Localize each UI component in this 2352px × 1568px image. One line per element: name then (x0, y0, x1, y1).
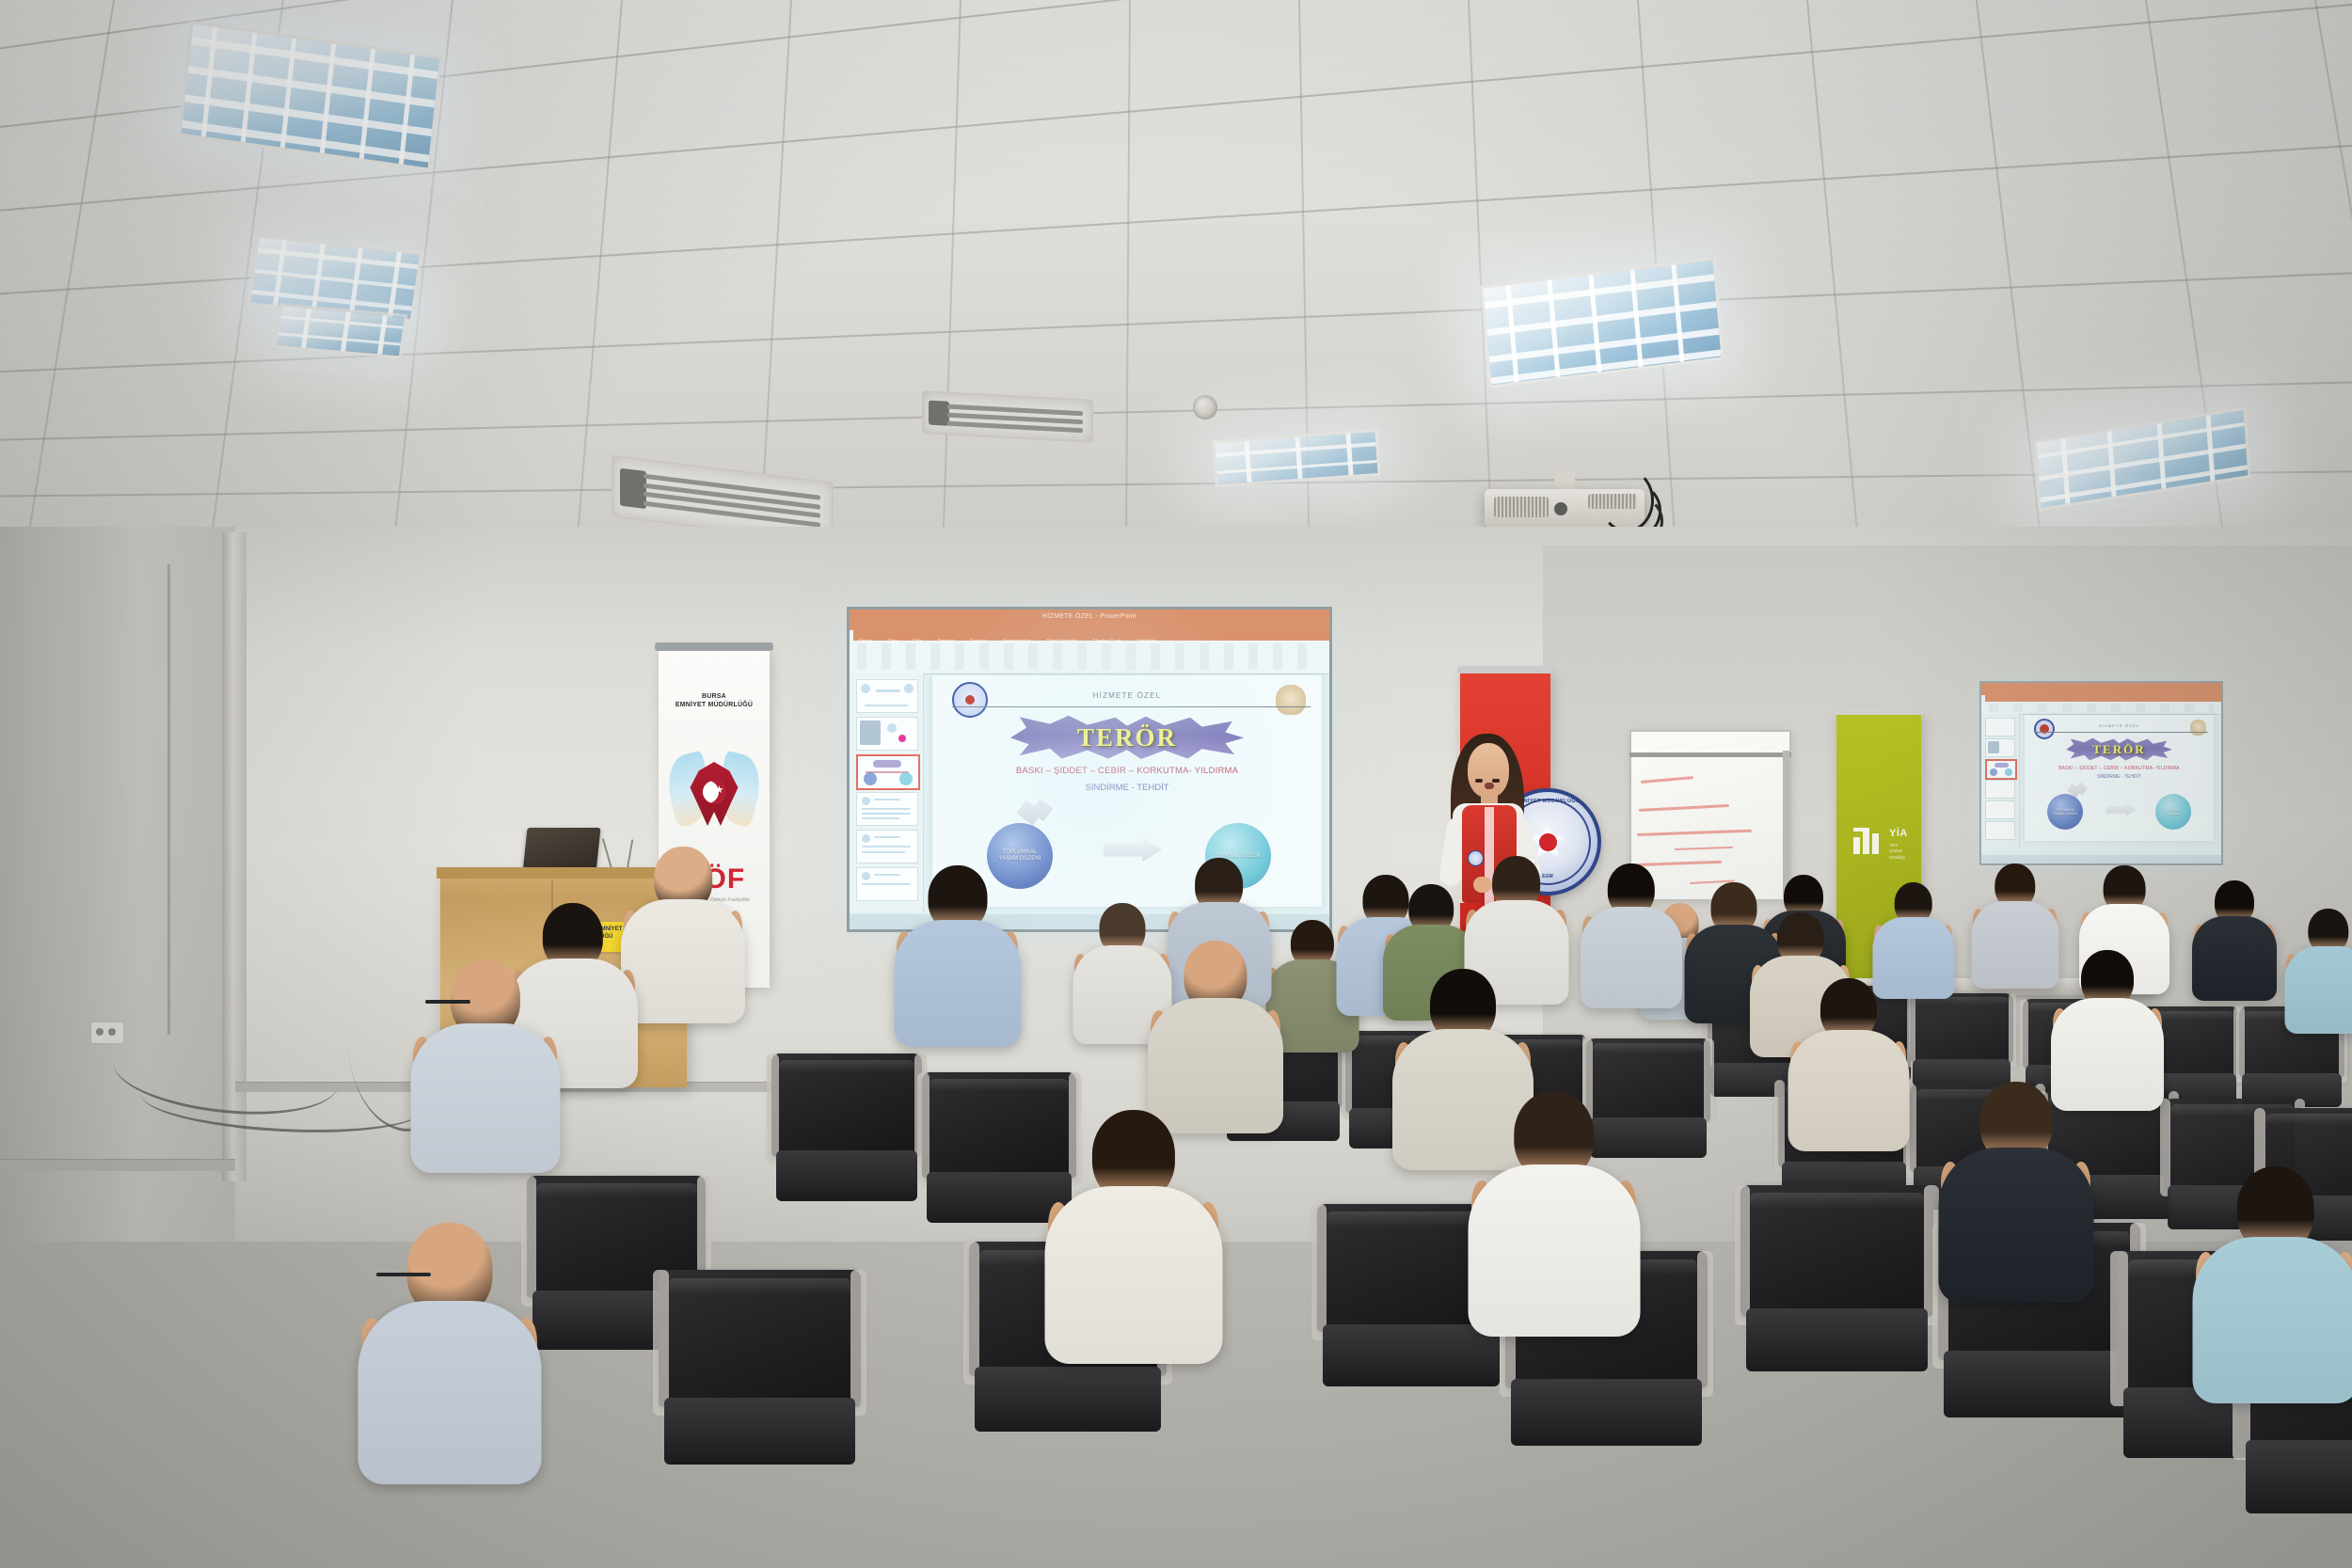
audience-member (1581, 863, 1682, 1018)
slide-keywords-line1: BASKI – ŞİDDET – CEBİR – KORKUTMA- YILDI… (948, 766, 1307, 776)
carpet-tile (0, 1289, 104, 1343)
banner-org-title: BURSA EMNİYET MÜDÜRLÜĞÜ (659, 692, 770, 710)
ribbon-tab-strip (1985, 695, 2221, 702)
audience-member (1971, 863, 2058, 996)
person-torso (1581, 907, 1682, 1008)
audience-member (1938, 1082, 2093, 1318)
presenter-eye (1475, 779, 1483, 783)
carpet-tile (1835, 1481, 2240, 1555)
slide-classification-header: HİZMETE ÖZEL (2036, 723, 2202, 728)
chair-seat (776, 1150, 917, 1200)
right-arrow-icon (1104, 837, 1162, 862)
banner-brand-name: YİA (1889, 828, 1908, 839)
chair-armrest (1704, 1038, 1714, 1128)
person-torso (621, 899, 745, 1023)
ribbon-tab-strip[interactable]: Dosya Giriş Ekle Tasarım Geçişler Animas… (853, 630, 1329, 641)
left-wall-column (0, 527, 235, 1242)
chair-armrest (2020, 999, 2028, 1073)
slide-divider (952, 706, 1311, 707)
slide-keywords-line1: BASKI – ŞİDDET – CEBİR – KORKUTMA- YILDI… (2032, 766, 2206, 771)
audience-member (410, 959, 560, 1187)
carpet-tile (2023, 1556, 2352, 1568)
slide-thumbnail[interactable] (856, 717, 918, 751)
presenter-eye (1492, 779, 1500, 783)
chair-armrest (1697, 1251, 1713, 1397)
audience-member (2284, 909, 2352, 1041)
slide-thumbnail (1985, 718, 2015, 736)
audience-chair[interactable] (771, 1053, 922, 1221)
whiteboard-marker-tray (1629, 752, 1791, 757)
ceiling-tile-line (0, 0, 2352, 2)
ceiling-tile-line (0, 378, 2352, 444)
slide-title-text: TERÖR (2066, 737, 2172, 761)
whiteboard-writing (1639, 804, 1729, 812)
person-torso (1044, 1186, 1222, 1364)
chair-armrest (2236, 1006, 2245, 1083)
diagram-circle-right: SİYASAL DÜZEN (2155, 794, 2191, 830)
audience-member (2192, 880, 2277, 1009)
chair-armrest (1735, 1185, 1750, 1325)
wall-baseboard (0, 1159, 235, 1171)
diagram-circle-left: TOPLUMSAL YAŞAM DÜZENİ (2047, 794, 2083, 830)
carpet-tile (1138, 1556, 1581, 1568)
chair-backrest (771, 1053, 922, 1157)
eyeglasses-icon (425, 1000, 470, 1004)
banner-rail (1457, 666, 1553, 673)
slide-canvas: HİZMETE ÖZEL TERÖR BASKI – ŞİDDET – CEBİ… (2025, 715, 2214, 841)
ceiling-tile-line (942, 0, 961, 564)
police-emblem-icon (2034, 719, 2055, 739)
chair-backrest (1740, 1185, 1933, 1317)
powerpoint-ribbon (1981, 695, 2221, 715)
slide-title-burst: TERÖR (2066, 737, 2172, 761)
audience-member (621, 847, 745, 1036)
chair-armrest (767, 1053, 779, 1164)
carpet-tile (696, 1556, 1139, 1568)
banner-rail (1834, 707, 1924, 715)
powerpoint-ribbon: Dosya Giriş Ekle Tasarım Geçişler Animas… (850, 630, 1329, 674)
slide-keywords-line2: SİNDİRME - TEHDİT (2032, 774, 2206, 780)
person-torso (2192, 916, 2277, 1001)
ribbon-command-icons[interactable] (857, 643, 1322, 670)
whiteboard-writing (1637, 830, 1752, 836)
projector-vent-grille (1494, 497, 1549, 517)
powerpoint-title-bar: HİZMETE ÖZEL - PowerPoint (850, 610, 1329, 630)
projector-lens (1554, 502, 1567, 515)
carpet-tile (1581, 1556, 2024, 1568)
powerpoint-title-bar (1981, 683, 2221, 695)
powerpoint-title-text: HİZMETE ÖZEL - PowerPoint (850, 613, 1329, 620)
tagline-1: Yeni (1889, 843, 1898, 847)
tagline-2: Çözüm (1889, 848, 1902, 853)
carpet-tile (621, 1481, 1026, 1555)
slide-thumbnail[interactable] (856, 679, 918, 713)
chair-seat (1746, 1308, 1928, 1372)
chair-armrest (963, 1242, 979, 1385)
ceiling-speaker-icon (1193, 395, 1217, 420)
presenter-head (1468, 743, 1509, 798)
seminar-room-photo: HİZMETE ÖZEL - PowerPoint Dosya Giriş Ek… (0, 0, 2352, 1568)
slide-divider (2034, 732, 2208, 733)
audience-member (894, 865, 1021, 1058)
person-torso (1971, 901, 2058, 989)
slide-thumbnail[interactable] (856, 792, 918, 826)
right-arrow-icon (2106, 803, 2136, 816)
laptop-screen-lid (522, 828, 600, 873)
police-emblem-icon (952, 682, 988, 718)
ceiling-air-vent (922, 390, 1093, 443)
chair-armrest (653, 1270, 669, 1416)
wall-power-socket[interactable] (90, 1022, 124, 1044)
banner-tagline: Yeni Çözüm Ortaklığı (1889, 843, 1905, 861)
slide-thumbnail-selected[interactable] (856, 754, 920, 790)
slide-thumbnail[interactable] (856, 830, 918, 863)
person-torso (358, 1301, 541, 1484)
powerpoint-status-bar (1981, 855, 2221, 863)
tagline-3: Ortaklığı (1889, 855, 1905, 860)
chair-backrest (659, 1270, 861, 1407)
carpet-tile (0, 1347, 142, 1408)
carpet-tile (254, 1556, 697, 1568)
chair-seat (2246, 1440, 2352, 1513)
carpet-tile (0, 1556, 255, 1568)
slide-thumbnail-selected (1985, 759, 2017, 780)
audience-member (2192, 1166, 2352, 1419)
ceiling-tile-line (2314, 0, 2352, 557)
chair-seat (1944, 1351, 2134, 1418)
person-torso (1938, 1148, 2093, 1303)
wall-cable (167, 564, 180, 1035)
chair-armrest (2009, 993, 2017, 1068)
bar-logo-icon (1853, 826, 1885, 854)
chair-armrest (1311, 1204, 1327, 1340)
whiteboard-writing (1675, 847, 1733, 850)
carpet-tile (1430, 1481, 1836, 1555)
slide-keywords-line2: SİNDİRME - TEHDİT (948, 783, 1307, 793)
carpet-tile (0, 1236, 67, 1284)
ceiling-tile-line (24, 0, 115, 558)
person-torso (1788, 1030, 1909, 1151)
carpet-tile (0, 1481, 217, 1555)
projection-screen-secondary: HİZMETE ÖZEL TERÖR BASKI – ŞİDDET – CEBİ… (1979, 681, 2223, 865)
banner-rail (655, 642, 773, 651)
chair-seat (664, 1398, 854, 1465)
whiteboard-writing (1641, 776, 1693, 784)
phoenix-eagle-icon (669, 749, 759, 852)
chair-armrest (850, 1270, 866, 1416)
slide-thumbnail (1985, 738, 2015, 757)
chair-armrest (917, 1072, 930, 1185)
person-torso (894, 920, 1021, 1047)
slide-classification-header: HİZMETE ÖZEL (956, 691, 1298, 700)
carpet-tile (0, 1411, 180, 1479)
audience-member (1468, 1091, 1640, 1353)
audience-chair[interactable] (1740, 1185, 1933, 1397)
slide-title-text: TERÖR (1010, 715, 1244, 761)
banner-org-line1: BURSA (702, 693, 726, 700)
ceiling-tile-line (1125, 0, 1131, 564)
ceiling-tile-line (0, 469, 2352, 499)
presenter-mouth (1485, 783, 1494, 789)
audience-member (358, 1223, 541, 1501)
ceiling-tile-line (1976, 0, 2044, 561)
carpet-tile (1025, 1481, 1431, 1555)
ribbon-command-icons (1989, 704, 2214, 712)
eyeglasses-icon (376, 1273, 432, 1276)
slide-title-burst: TERÖR (1010, 715, 1244, 761)
slide-thumbnail (1985, 780, 2015, 799)
crescent-icon (703, 781, 725, 803)
person-torso (2284, 946, 2352, 1034)
audience-member (1044, 1110, 1222, 1380)
person-torso (1468, 1164, 1640, 1337)
chair-seat (1511, 1379, 1701, 1446)
slide-thumbnail (1985, 821, 2015, 840)
banner-org-line2: EMNİYET MÜDÜRLÜĞÜ (675, 702, 753, 708)
carpet-tile (66, 1236, 321, 1284)
person-torso (2192, 1237, 2352, 1403)
chair-armrest (2110, 1251, 2127, 1406)
chair-armrest (1774, 1080, 1785, 1173)
carpet-tile (103, 1289, 396, 1343)
audience-member (1788, 978, 1909, 1163)
audience-chair[interactable] (659, 1270, 861, 1491)
slide-thumbnail (1985, 800, 2015, 819)
person-torso (410, 1023, 560, 1173)
slide-thumbnail-panel (1981, 714, 2020, 847)
